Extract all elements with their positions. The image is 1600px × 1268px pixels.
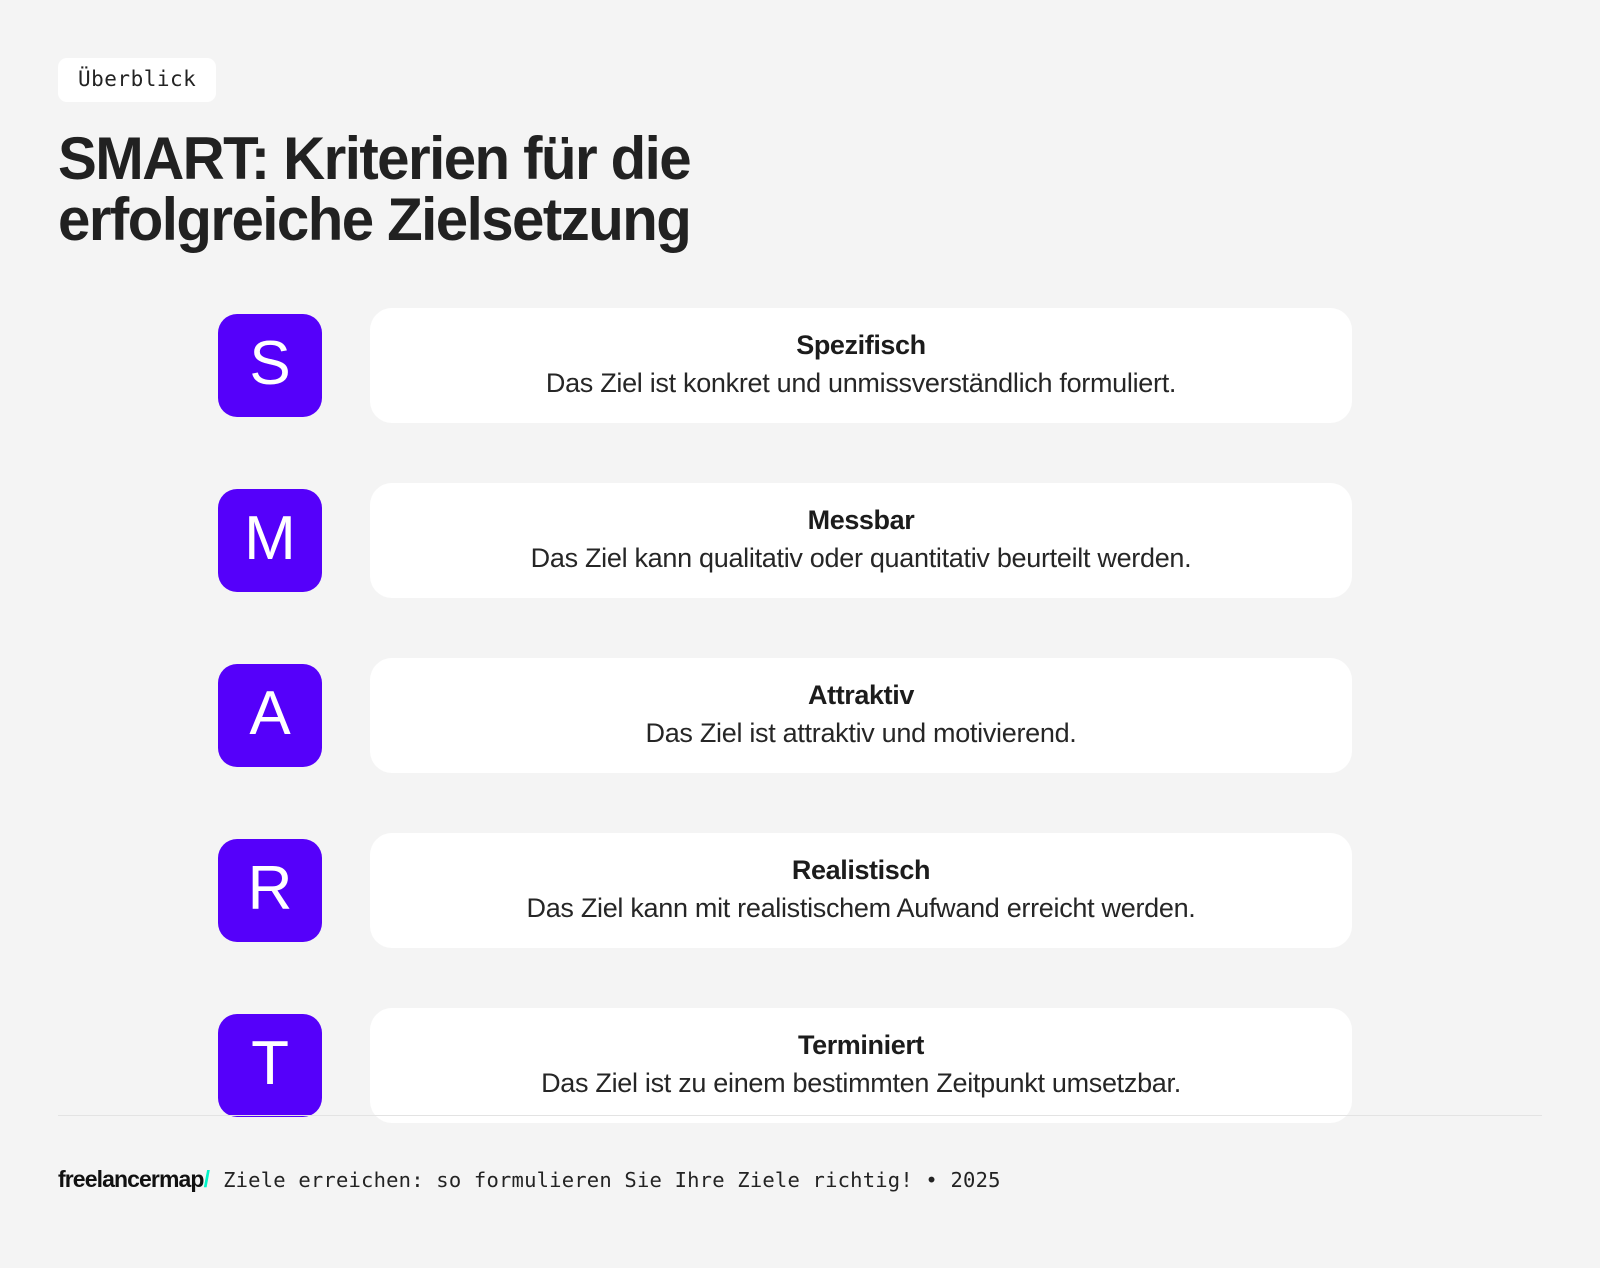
letter-tile-m: M xyxy=(218,489,322,592)
card-description: Das Ziel ist attraktiv und motivierend. xyxy=(646,716,1077,751)
card-title: Realistisch xyxy=(792,853,930,888)
card-title: Spezifisch xyxy=(796,328,926,363)
page-header: Überblick SMART: Kriterien für die erfol… xyxy=(58,58,1542,250)
criteria-card-terminiert: Terminiert Das Ziel ist zu einem bestimm… xyxy=(370,1008,1352,1123)
list-item: T Terminiert Das Ziel ist zu einem besti… xyxy=(218,1008,1352,1123)
footer-content: freelancermap/ Ziele erreichen: so formu… xyxy=(58,1116,1542,1193)
footer-caption: Ziele erreichen: so formulieren Sie Ihre… xyxy=(223,1168,1001,1192)
letter-tile-a: A xyxy=(218,664,322,767)
brand-logo: freelancermap/ xyxy=(58,1166,209,1193)
criteria-card-attraktiv: Attraktiv Das Ziel ist attraktiv und mot… xyxy=(370,658,1352,773)
brand-name: freelancermap xyxy=(58,1166,204,1192)
card-title: Messbar xyxy=(808,503,915,538)
list-item: R Realistisch Das Ziel kann mit realisti… xyxy=(218,833,1352,948)
list-item: A Attraktiv Das Ziel ist attraktiv und m… xyxy=(218,658,1352,773)
criteria-card-spezifisch: Spezifisch Das Ziel ist konkret und unmi… xyxy=(370,308,1352,423)
card-title: Attraktiv xyxy=(808,678,914,713)
letter-tile-s: S xyxy=(218,314,322,417)
list-item: S Spezifisch Das Ziel ist konkret und un… xyxy=(218,308,1352,423)
page-title: SMART: Kriterien für die erfolgreiche Zi… xyxy=(58,129,873,250)
card-description: Das Ziel ist konkret und unmissverständl… xyxy=(546,366,1176,401)
list-item: M Messbar Das Ziel kann qualitativ oder … xyxy=(218,483,1352,598)
card-description: Das Ziel ist zu einem bestimmten Zeitpun… xyxy=(541,1066,1181,1101)
card-description: Das Ziel kann qualitativ oder quantitati… xyxy=(531,541,1192,576)
card-title: Terminiert xyxy=(798,1028,924,1063)
criteria-card-realistisch: Realistisch Das Ziel kann mit realistisc… xyxy=(370,833,1352,948)
page-footer: freelancermap/ Ziele erreichen: so formu… xyxy=(58,1115,1542,1268)
smart-criteria-list: S Spezifisch Das Ziel ist konkret und un… xyxy=(58,308,1542,1123)
card-description: Das Ziel kann mit realistischem Aufwand … xyxy=(527,891,1196,926)
overview-badge: Überblick xyxy=(58,58,216,102)
letter-tile-r: R xyxy=(218,839,322,942)
brand-slash-accent: / xyxy=(204,1166,210,1192)
infographic-page: Überblick SMART: Kriterien für die erfol… xyxy=(0,0,1600,1268)
criteria-card-messbar: Messbar Das Ziel kann qualitativ oder qu… xyxy=(370,483,1352,598)
letter-tile-t: T xyxy=(218,1014,322,1117)
